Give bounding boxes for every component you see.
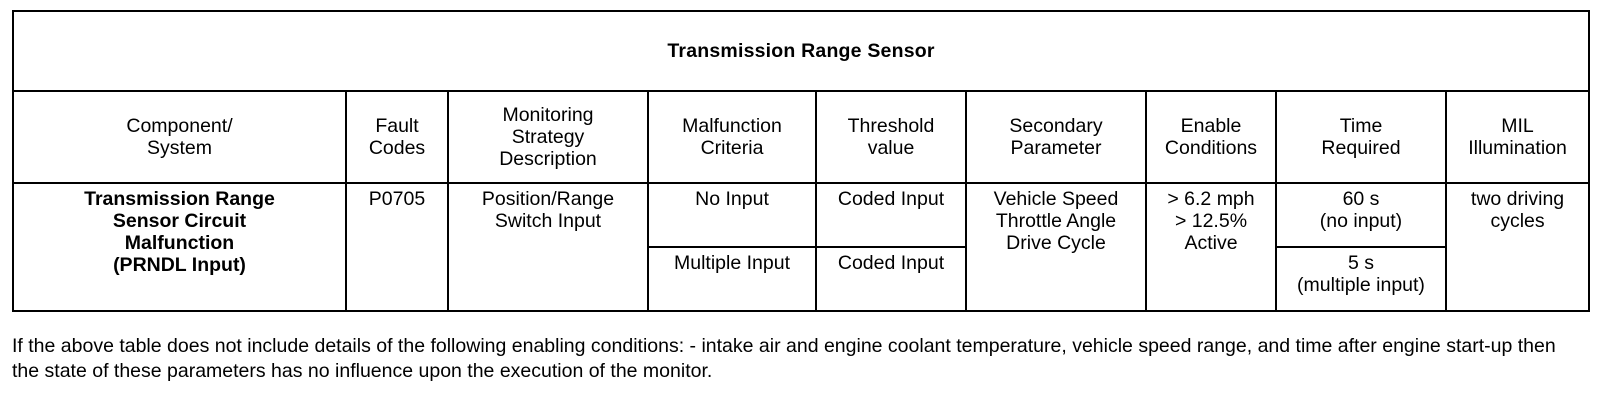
cell-line: Sensor Circuit	[17, 210, 342, 232]
column-header-malfunction-criteria: Malfunction Criteria	[648, 91, 816, 183]
cell-line: Position/Range	[452, 188, 644, 210]
cell-time-required-2: 5 s (multiple input)	[1276, 247, 1446, 311]
header-line: Monitoring	[452, 104, 644, 126]
cell-line: Vehicle Speed	[970, 188, 1142, 210]
column-header-mil-illumination: MIL Illumination	[1446, 91, 1589, 183]
cell-secondary-parameter: Vehicle Speed Throttle Angle Drive Cycle	[966, 183, 1146, 311]
cell-line: Active	[1150, 232, 1272, 254]
header-line: Codes	[350, 137, 444, 159]
header-line: Conditions	[1150, 137, 1272, 159]
header-line: Parameter	[970, 137, 1142, 159]
header-line: Fault	[350, 115, 444, 137]
cell-time-required-1: 60 s (no input)	[1276, 183, 1446, 247]
header-line: value	[820, 137, 962, 159]
header-line: Criteria	[652, 137, 812, 159]
cell-malfunction-criteria-1: No Input	[648, 183, 816, 247]
cell-line: Transmission Range	[17, 188, 342, 210]
cell-line: 5 s	[1280, 252, 1442, 274]
cell-malfunction-criteria-2: Multiple Input	[648, 247, 816, 311]
header-line: System	[17, 137, 342, 159]
header-line: Required	[1280, 137, 1442, 159]
header-line: Secondary	[970, 115, 1142, 137]
column-header-enable-conditions: Enable Conditions	[1146, 91, 1276, 183]
cell-line: Switch Input	[452, 210, 644, 232]
column-header-component-system: Component/ System	[13, 91, 346, 183]
diagnostic-spec-table: Transmission Range Sensor Component/ Sys…	[12, 10, 1590, 312]
column-header-fault-codes: Fault Codes	[346, 91, 448, 183]
column-header-threshold-value: Threshold value	[816, 91, 966, 183]
header-line: Description	[452, 148, 644, 170]
cell-enable-conditions: > 6.2 mph > 12.5% Active	[1146, 183, 1276, 311]
cell-threshold-value-2: Coded Input	[816, 247, 966, 311]
table-header-row: Component/ System Fault Codes Monitoring…	[13, 91, 1589, 183]
header-line: Strategy	[452, 126, 644, 148]
cell-line: Throttle Angle	[970, 210, 1142, 232]
cell-line: 60 s	[1280, 188, 1442, 210]
cell-line: two driving	[1450, 188, 1585, 210]
cell-threshold-value-1: Coded Input	[816, 183, 966, 247]
cell-line: (PRNDL Input)	[17, 254, 342, 276]
cell-line: (no input)	[1280, 210, 1442, 232]
header-line: MIL	[1450, 115, 1585, 137]
header-line: Component/	[17, 115, 342, 137]
cell-line: Drive Cycle	[970, 232, 1142, 254]
header-line: Time	[1280, 115, 1442, 137]
cell-fault-codes: P0705	[346, 183, 448, 311]
column-header-secondary-parameter: Secondary Parameter	[966, 91, 1146, 183]
document-page: Transmission Range Sensor Component/ Sys…	[0, 0, 1600, 420]
column-header-time-required: Time Required	[1276, 91, 1446, 183]
cell-monitoring-strategy-description: Position/Range Switch Input	[448, 183, 648, 311]
header-line: Enable	[1150, 115, 1272, 137]
table-title: Transmission Range Sensor	[13, 11, 1589, 91]
cell-line: (multiple input)	[1280, 274, 1442, 296]
cell-line: > 6.2 mph	[1150, 188, 1272, 210]
cell-line: Malfunction	[17, 232, 342, 254]
header-line: Illumination	[1450, 137, 1585, 159]
table-title-row: Transmission Range Sensor	[13, 11, 1589, 91]
footnote-text: If the above table does not include deta…	[12, 334, 1588, 385]
cell-line: > 12.5%	[1150, 210, 1272, 232]
column-header-monitoring-strategy-description: Monitoring Strategy Description	[448, 91, 648, 183]
header-line: Threshold	[820, 115, 962, 137]
header-line: Malfunction	[652, 115, 812, 137]
table-row: Transmission Range Sensor Circuit Malfun…	[13, 183, 1589, 247]
cell-line: cycles	[1450, 210, 1585, 232]
cell-component-system: Transmission Range Sensor Circuit Malfun…	[13, 183, 346, 311]
cell-mil-illumination: two driving cycles	[1446, 183, 1589, 311]
